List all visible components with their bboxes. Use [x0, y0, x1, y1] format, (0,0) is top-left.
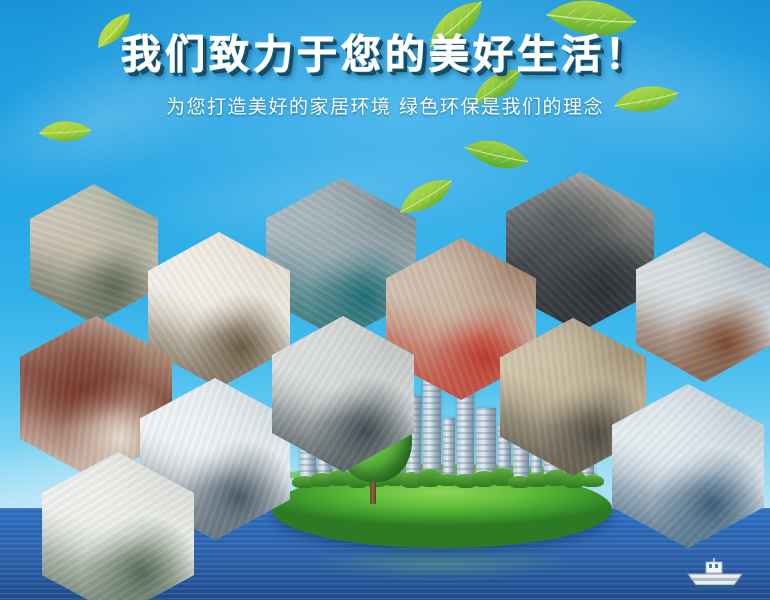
page-title: 我们致力于您的美好生活！	[121, 34, 649, 76]
headline-block: 我们致力于您的美好生活！ 为您打造美好的家居环境 绿色环保是我们的理念	[0, 34, 770, 119]
gallery-hex-scaffold-high-work[interactable]	[636, 232, 770, 382]
gallery-photo-texture	[636, 232, 770, 382]
gallery-photo-texture	[30, 184, 158, 324]
page-subtitle: 为您打造美好的家居环境 绿色环保是我们的理念	[0, 92, 770, 119]
gallery-hex-worker-stone-polishing[interactable]	[30, 184, 158, 324]
banner-stage: 我们致力于您的美好生活！ 为您打造美好的家居环境 绿色环保是我们的理念	[0, 0, 770, 600]
